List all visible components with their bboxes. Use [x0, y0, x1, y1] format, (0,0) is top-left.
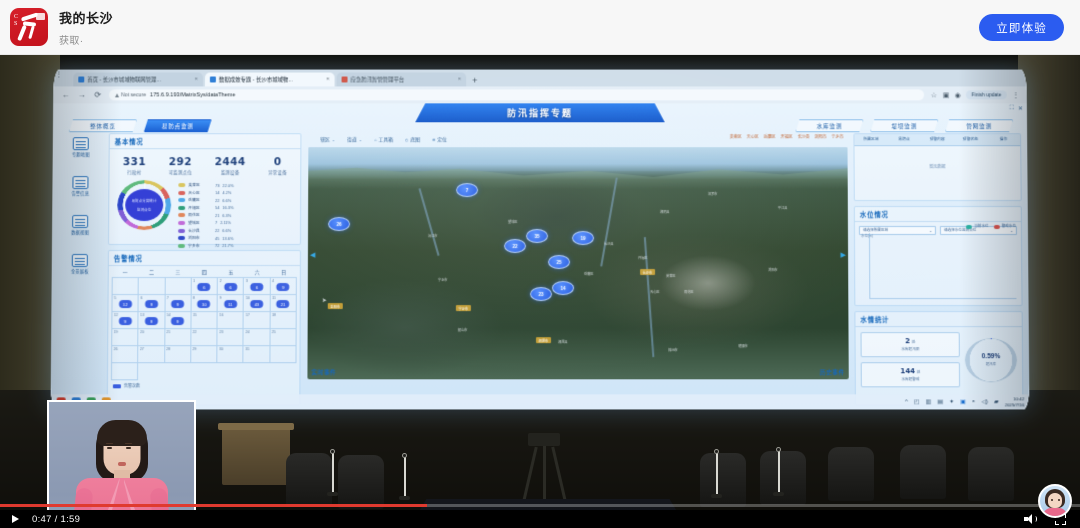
rail-label: 告警信息 [72, 191, 90, 197]
legend-row[interactable]: 雨花区216.3% [178, 212, 233, 218]
grid-icon[interactable]: ▤ [937, 398, 943, 405]
microphone-head-icon [330, 449, 335, 454]
donut-chart: 易防点分类统计 监测点位 [115, 180, 173, 230]
player-avatar-eye-right [1058, 499, 1060, 501]
legend-value: 21 [215, 213, 219, 218]
camera-icon[interactable]: ▣ [960, 398, 966, 405]
microphone-stem [332, 453, 334, 493]
maximize-icon[interactable]: ⛶ [1010, 105, 1014, 112]
dashboard-rail: 专题地图 告警信息 数据视图 全景展板 [60, 137, 103, 293]
map-tool-辖区[interactable]: 辖区⌄ [320, 136, 335, 143]
map-cluster-marker[interactable]: 7 [456, 183, 478, 197]
calendar-cell[interactable]: 139 [139, 312, 165, 329]
calendar-weekday: 六 [244, 269, 270, 276]
alarm-calendar: 1626364951269798109111043112112913914915… [111, 277, 297, 380]
app-name: 我的长沙 [59, 8, 113, 27]
map-cluster-marker[interactable]: 22 [504, 239, 526, 253]
dashboard-tabs-right: 水库监测 堤坝监测 管网监测 [795, 119, 1013, 132]
rail-label: 数据视图 [71, 230, 89, 236]
presenter-pip-window[interactable] [47, 400, 196, 510]
map-tool-定位[interactable]: ⊕定位 [432, 136, 447, 143]
calendar-cell[interactable]: 27 [138, 346, 164, 363]
calendar-cell[interactable]: 1121 [270, 295, 296, 312]
map-river [600, 178, 617, 267]
map-tool-工具箱[interactable]: ⌂工具箱 [374, 136, 393, 143]
bookmark-star-icon[interactable]: ☆ [931, 91, 937, 99]
map-place-label: 韶山市 [458, 327, 468, 332]
tab-list-menu-icon[interactable]: ⋮ [53, 71, 62, 79]
logo-stroke-3 [17, 25, 27, 41]
map-cluster-marker[interactable]: 23 [530, 287, 552, 301]
forward-icon[interactable]: → [77, 90, 86, 99]
map-place-label: 沅江市 [428, 233, 438, 238]
map-cluster-marker[interactable]: 25 [548, 255, 570, 269]
calendar-day-number: 26 [114, 347, 118, 351]
map-legend-item[interactable]: 岳麓区 [764, 134, 776, 140]
calendar-day-number: 8 [193, 296, 195, 300]
calendar-cell[interactable]: 129 [112, 312, 138, 329]
legend-row[interactable]: 开福区5416.3% [178, 205, 233, 211]
profile-icon[interactable]: ◉ [955, 91, 961, 99]
address-bar[interactable]: Not secure 175.6.9.193/MatrixSys/dataThe… [109, 89, 924, 100]
stat-villages: 331 行政村 [123, 156, 146, 176]
logo-stroke-4 [28, 26, 35, 39]
browser-tab-0[interactable]: 首页 - 长沙市城域物联网管理... × [73, 73, 203, 87]
calendar-cell[interactable] [139, 278, 165, 295]
calendar-day-number: 7 [167, 296, 169, 300]
calendar-day-number: 15 [193, 313, 197, 317]
microphone-base [399, 496, 410, 500]
avatar-mouth [118, 462, 126, 466]
chair [900, 445, 946, 499]
tool-label: 底图 [410, 136, 420, 143]
map-river [418, 188, 439, 256]
tool-icon: ◴ [405, 137, 409, 142]
panel-title: 水情统计 [855, 312, 1021, 327]
rail-item-alerts[interactable]: 告警信息 [60, 176, 100, 208]
calendar-alarm-count: 11 [224, 300, 237, 308]
calendar-weekday: 日 [270, 269, 296, 276]
map-city-tag: 益阳市 [328, 303, 343, 309]
stat-value: 292 [169, 156, 193, 168]
wifi-icon[interactable]: ◓ [972, 399, 976, 405]
legend-label: 长沙县 [188, 228, 212, 234]
legend-value: 72 [215, 243, 219, 248]
volume-icon[interactable]: ◁) [981, 398, 988, 405]
tab-favicon-icon [210, 77, 216, 83]
map-legend-item[interactable]: 浏阳市 [814, 134, 826, 140]
browser-tab-2[interactable]: 应急防汛智管管理平台 × [337, 73, 467, 87]
calendar-day-number: 27 [140, 347, 144, 351]
legend-row[interactable]: 宁乡市7221.7% [178, 243, 233, 249]
tool-icon: ⌂ [374, 137, 376, 142]
table-column-header: 易防点 [888, 134, 921, 145]
stat-label: 行政村 [123, 170, 146, 176]
calendar-cell[interactable] [113, 278, 139, 295]
stat-devices: 2444 监测设备 [215, 156, 246, 176]
calendar-cell[interactable]: 1043 [244, 295, 270, 312]
back-icon[interactable]: ← [61, 90, 70, 99]
chart-icon[interactable]: ▥ [926, 398, 932, 405]
dashboard-right-column: 所属区域易防点预警内容预警状态操作 暂无数据 水位情况 请选择所属区域 ⌄ 请选… [853, 133, 1023, 405]
stat-label: 可监测点位 [169, 170, 192, 176]
tab-label: 应急防汛智管管理平台 [351, 76, 405, 84]
map-legend-item[interactable]: 天心区 [747, 134, 759, 140]
legend-percent: 21.7% [222, 243, 233, 248]
table-column-header: 操作 [987, 134, 1020, 145]
realtime-events-label[interactable]: 实时事件 [311, 368, 336, 376]
calendar-alarm-count: 6 [198, 283, 211, 291]
rail-item-board[interactable]: 全景展板 [60, 254, 100, 286]
browser-window: ⋮ 首页 - 长沙市城域物联网管理... × 数据成效专题 - 长沙市城域物..… [51, 70, 1030, 410]
map-water [308, 147, 847, 171]
map-place-label: 望城区 [508, 219, 518, 224]
calendar-day-number: 31 [245, 347, 249, 351]
basic-stats-row: 331 行政村 292 可监测点位 2444 监测设备 [109, 149, 300, 178]
tab-riskpoint-monitor[interactable]: 易防点监测 [144, 119, 212, 132]
calendar-cell[interactable]: 15 [191, 312, 217, 329]
chair [286, 453, 332, 507]
settings-icon[interactable]: ✦ [949, 398, 954, 405]
tab-pipe-monitor[interactable]: 管网监测 [945, 119, 1013, 132]
calendar-day-number: 25 [272, 330, 276, 334]
map-place-label: 宁乡市 [438, 277, 448, 282]
map-urban-area [660, 255, 756, 311]
microphone-base [327, 492, 338, 496]
calendar-alarm-count: 6 [224, 283, 237, 291]
time-display: 0:47 / 1:59 [32, 514, 80, 525]
tab-reservoir-monitor[interactable]: 水库监测 [795, 119, 863, 132]
calendar-weekday: 一 [112, 269, 138, 276]
calendar-legend: 告警次数 [108, 380, 300, 389]
open-app-button[interactable]: 立即体验 [979, 14, 1064, 41]
history-events-label[interactable]: 历史事件 [820, 368, 845, 376]
calendar-cell[interactable]: 22 [191, 329, 217, 346]
legend-label: 望城区 [188, 220, 212, 226]
windows-taskbar: ^ ◰ ▥ ▤ ✦ ▣ ◓ ◁) ▰ 10:42 2025/7/16 [51, 394, 1030, 409]
dashboard-titlebar: 防汛指挥专题 整体概览 易防点监测 水库监测 堤坝监测 管网监测 ⛶ ✕ [53, 103, 1027, 129]
tab-overview[interactable]: 整体概览 [69, 119, 137, 132]
calendar-cell[interactable]: 810 [191, 295, 217, 312]
calendar-day-number: 21 [166, 330, 170, 334]
map-place-label: 雨花区 [684, 289, 694, 294]
calendar-alarm-count: 43 [250, 300, 263, 308]
legend-swatch [178, 183, 185, 187]
video-player-controls: 0:47 / 1:59 [0, 510, 1080, 528]
calendar-day-number: 2 [219, 279, 221, 283]
calendar-weekday: 四 [191, 269, 217, 276]
map-city-tag: 长沙市 [640, 269, 655, 275]
legend-percent: 6.6% [222, 228, 231, 233]
tab-close-icon[interactable]: × [458, 77, 462, 83]
satellite-map[interactable]: 汨罗市平江县湘阴县沅江市望城区长沙县开福区芙蓉区岳麓区天心区雨花区浏阳市宁乡市韶… [307, 147, 848, 379]
tab-close-icon[interactable]: × [326, 77, 330, 83]
water-level-chart [869, 233, 1017, 299]
tool-label: 街道 [347, 136, 357, 143]
calendar-day-number: 22 [193, 330, 197, 334]
calendar-cell[interactable]: 79 [165, 295, 191, 312]
table-header-row: 所属区域易防点预警内容预警状态操作 [854, 134, 1020, 146]
water-stat-cards: 2 处 水库超汛限 144 处 水库超警戒 [861, 332, 961, 387]
rail-label: 全景展板 [71, 269, 89, 275]
calendar-alarm-count: 10 [198, 300, 211, 308]
chair [338, 455, 384, 509]
chair [828, 447, 874, 501]
legend-row[interactable]: 岳麓区226.6% [178, 197, 233, 203]
battery-icon[interactable]: ▰ [994, 398, 999, 405]
legend-percent: 4.2% [223, 190, 232, 195]
tab-close-icon[interactable]: × [194, 77, 198, 83]
play-button[interactable] [12, 515, 19, 523]
microphone-stem [404, 457, 406, 497]
calendar-cell[interactable]: 28 [165, 346, 191, 363]
water-stats-body: 2 处 水库超汛限 144 处 水库超警戒 [855, 327, 1022, 387]
map-pan-left-icon[interactable]: ◀ [310, 251, 315, 259]
legend-warning-level: 警戒水位 [994, 224, 1016, 229]
calendar-cell[interactable]: 26 [112, 346, 138, 363]
player-avatar[interactable] [1038, 484, 1072, 518]
calendar-day-number: 11 [272, 296, 276, 300]
calendar-weekday-header: 一二三四五六日 [109, 266, 300, 277]
calendar-cell[interactable]: 69 [139, 295, 165, 312]
calendar-day-number: 30 [219, 347, 223, 351]
calendar-cell[interactable]: 21 [165, 329, 191, 346]
logo-stroke-1 [21, 12, 38, 21]
close-icon[interactable]: ✕ [1018, 105, 1023, 112]
tab-favicon-icon [342, 77, 348, 83]
video-progress-bar[interactable] [0, 504, 1080, 507]
microphone-stem [778, 451, 780, 493]
clock-date: 2025/7/16 [1005, 402, 1025, 408]
taskbar-tray: ^ ◰ ▥ ▤ ✦ ▣ ◓ ◁) ▰ 10:42 2025/7/16 [905, 396, 1029, 408]
panel-basic-info: 基本情况 331 行政村 292 可监测点位 2444 [108, 133, 301, 245]
stat-value: 2 [905, 337, 910, 345]
browser-tab-1[interactable]: 数据成效专题 - 长沙市城域物... × [205, 73, 335, 87]
stat-value: 2444 [215, 156, 246, 168]
legend-swatch [178, 191, 185, 195]
map-city-tag: 宁乡市 [456, 305, 471, 311]
calendar-alarm-count: 9 [171, 300, 184, 308]
legend-swatch [178, 236, 185, 240]
flood-dashboard: 防汛指挥专题 整体概览 易防点监测 水库监测 堤坝监测 管网监测 ⛶ ✕ [51, 103, 1030, 409]
map-legend-item[interactable]: 长沙县 [798, 134, 810, 140]
map-icon [73, 137, 89, 150]
stat-unit: 处 [917, 370, 921, 374]
legend-row[interactable]: 芙蓉区7322.0% [178, 182, 233, 188]
calendar-cell[interactable] [165, 278, 191, 295]
chevron-down-icon: ⌄ [929, 229, 932, 233]
tab-label: 数据成效专题 - 长沙市城域物... [219, 76, 293, 84]
legend-value: 22 [215, 228, 219, 233]
tool-label: 定位 [437, 136, 447, 143]
calendar-cell[interactable]: 149 [165, 312, 191, 329]
legend-swatch [178, 198, 185, 202]
calendar-alarm-count: 6 [250, 283, 263, 291]
table-column-header: 所属区域 [854, 134, 887, 145]
map-cluster-marker[interactable]: 14 [552, 281, 574, 295]
legend-row[interactable]: 天心区144.2% [178, 190, 233, 196]
microphone-base [773, 492, 784, 496]
edge-icon[interactable]: ◰ [914, 398, 920, 405]
map-legend-item[interactable]: 宁乡市 [831, 134, 843, 140]
browser-menu-icon[interactable]: ⋮ [1012, 91, 1019, 99]
legend-label: 天心区 [188, 190, 212, 196]
map-place-label: 芙蓉区 [666, 273, 676, 278]
panel-title: 基本情况 [110, 134, 301, 149]
dashboard-center-column: 辖区⌄街道⌄⌂工具箱◴底图⊕定位 芙蓉区天心区岳麓区开福区长沙县浏阳市宁乡市 汨… [307, 133, 849, 405]
stat-unit: 处 [912, 340, 916, 344]
map-place-label: 湘阴县 [660, 209, 670, 214]
map-pan-right-icon[interactable]: ▶ [841, 251, 846, 259]
calendar-cell[interactable]: 29 [191, 346, 217, 363]
stat-value: 331 [123, 156, 146, 168]
reload-icon[interactable]: ⟳ [93, 90, 102, 99]
legend-percent: 13.6% [222, 236, 233, 241]
stat-label: 监测设备 [215, 170, 246, 176]
calendar-alarm-count: 9 [171, 317, 184, 325]
legend-row[interactable]: 长沙县226.6% [178, 228, 233, 234]
dashboard-tabs-left: 整体概览 易防点监测 [69, 119, 212, 132]
stat-label: 水库超警戒 [864, 377, 957, 382]
map-cluster-marker[interactable]: 35 [526, 229, 548, 243]
app-header: C S 我的长沙 获取· 立即体验 [0, 0, 1080, 55]
legend-value: 14 [215, 190, 219, 195]
rail-item-map[interactable]: 专题地图 [61, 137, 101, 169]
legend-label: 开福区 [188, 205, 212, 211]
stat-value: 144 [900, 367, 915, 375]
calendar-cell[interactable]: 36 [244, 278, 270, 295]
panel-title: 水位情况 [855, 207, 1021, 222]
microphone-head-icon [714, 449, 719, 454]
legend-percent: 6.3% [222, 213, 231, 218]
calendar-cell[interactable]: 18 [270, 312, 296, 329]
map-place-label: 株洲市 [668, 347, 678, 352]
security-indicator[interactable]: Not secure [115, 92, 146, 98]
calendar-day-number: 5 [114, 296, 116, 300]
calendar-day-number: 28 [166, 347, 170, 351]
legend-label: 芙蓉区 [188, 182, 212, 188]
legend-swatch [966, 225, 972, 229]
calendar-cell[interactable]: 25 [270, 329, 296, 346]
security-label: Not secure [121, 92, 146, 98]
tab-favicon-icon [78, 77, 84, 83]
calendar-day-number: 29 [193, 347, 197, 351]
calendar-cell[interactable] [112, 363, 138, 380]
video-stage[interactable]: ⋮ 首页 - 长沙市城域物联网管理... × 数据成效专题 - 长沙市城域物..… [0, 55, 1080, 510]
chevron-up-icon[interactable]: ^ [905, 399, 908, 405]
taskbar-clock[interactable]: 10:42 2025/7/16 [1005, 396, 1025, 408]
legend-label: 当前水位 [974, 224, 988, 229]
panel-water-stats: 水情统计 2 处 水库超汛限 144 处 [854, 311, 1023, 405]
page-title: 防汛指挥专题 [415, 103, 664, 122]
map-place-label: 平江县 [778, 205, 788, 210]
rail-item-data[interactable]: 数据视图 [60, 215, 100, 247]
legend-swatch [178, 213, 185, 217]
map-tool-街道[interactable]: 街道⌄ [347, 136, 362, 143]
calendar-day-number: 6 [140, 296, 142, 300]
microphone-base [711, 494, 722, 498]
calendar-cell[interactable]: 16 [218, 312, 244, 329]
chevron-down-icon: ⌄ [332, 137, 335, 142]
calendar-weekday: 二 [138, 269, 164, 276]
legend-label: 警戒水位 [1002, 224, 1016, 229]
calendar-day-number: 16 [219, 313, 223, 317]
camera-icon [528, 433, 560, 446]
map-place-label: 岳麓区 [584, 271, 594, 276]
window-controls: ⛶ ✕ [1010, 105, 1023, 112]
tab-dam-monitor[interactable]: 堤坝监测 [870, 119, 938, 132]
calendar-alarm-count: 12 [119, 300, 132, 308]
calendar-day-number: 10 [246, 296, 250, 300]
rail-label: 专题地图 [72, 152, 90, 158]
legend-label: 浏阳市 [188, 235, 212, 241]
app-title-group: 我的长沙 获取· [59, 8, 113, 47]
legend-row[interactable]: 浏阳市4513.6% [178, 235, 233, 241]
legend-value: 45 [215, 236, 219, 241]
map-place-label: 天心区 [650, 289, 660, 294]
avatar-hair-front [97, 420, 147, 446]
calendar-alarm-count: 9 [145, 317, 158, 325]
map-cluster-marker[interactable]: 19 [572, 231, 594, 245]
calendar-cell[interactable]: 512 [112, 295, 138, 312]
calendar-cell[interactable]: 17 [244, 312, 270, 329]
dashboard-left-column: 基本情况 331 行政村 292 可监测点位 2444 [107, 133, 302, 405]
calendar-alarm-count: 21 [277, 300, 290, 308]
calendar-cell[interactable]: 23 [218, 329, 244, 346]
player-avatar-face [1048, 493, 1062, 508]
map-place-label: 开福区 [638, 255, 648, 260]
panel-water-level: 水位情况 请选择所属区域 ⌄ 请选择水位监测点位 ⌄ [854, 206, 1023, 306]
extensions-icon[interactable]: ▣ [943, 91, 949, 99]
legend-swatch [113, 384, 121, 388]
map-place-label: 湘潭县 [558, 339, 568, 344]
map-tool-底图[interactable]: ◴底图 [405, 136, 420, 143]
map-legend-item[interactable]: 开福区 [781, 134, 793, 140]
calendar-cell[interactable]: 911 [218, 295, 244, 312]
logo-letter-s: S [14, 21, 18, 27]
omnibar-actions: ☆ ▣ ◉ Finish update ⋮ [931, 90, 1019, 99]
map-toolbar: 辖区⌄街道⌄⌂工具箱◴底图⊕定位 [320, 133, 447, 145]
calendar-day-number: 3 [246, 279, 248, 283]
chevron-down-icon: ⌄ [359, 137, 362, 142]
calendar-cell[interactable]: 24 [244, 329, 270, 346]
stat-label: 水库超汛限 [864, 347, 957, 352]
warning-triangle-icon [115, 93, 119, 97]
legend-value: 54 [215, 205, 219, 210]
calendar-day-number: 13 [140, 313, 144, 317]
calendar-cell[interactable]: 49 [270, 278, 296, 295]
calendar-cell[interactable] [270, 346, 296, 363]
new-tab-button[interactable]: + [472, 76, 477, 87]
calendar-cell[interactable]: 20 [139, 329, 165, 346]
panel-alert-table: 所属区域易防点预警内容预警状态操作 暂无数据 [853, 133, 1021, 201]
calendar-cell[interactable]: 26 [218, 278, 244, 295]
calendar-day-number: 23 [219, 330, 223, 334]
calendar-cell[interactable]: 16 [192, 278, 218, 295]
calendar-day-number: 19 [114, 330, 118, 334]
map-cluster-marker[interactable]: 26 [328, 217, 350, 231]
volume-icon[interactable] [1024, 514, 1037, 525]
map-legend-item[interactable]: 芙蓉区 [730, 134, 742, 140]
calendar-cell[interactable]: 19 [112, 329, 138, 346]
calendar-cell[interactable]: 30 [217, 346, 243, 363]
finish-update-button[interactable]: Finish update [966, 90, 1006, 99]
tool-icon: ⊕ [432, 137, 435, 142]
app-subtitle: 获取· [59, 32, 113, 47]
calendar-cell[interactable]: 31 [244, 346, 270, 363]
browser-tabstrip: ⋮ 首页 - 长沙市城域物联网管理... × 数据成效专题 - 长沙市城域物..… [53, 70, 1026, 87]
legend-row[interactable]: 望城区72.11% [178, 220, 233, 226]
